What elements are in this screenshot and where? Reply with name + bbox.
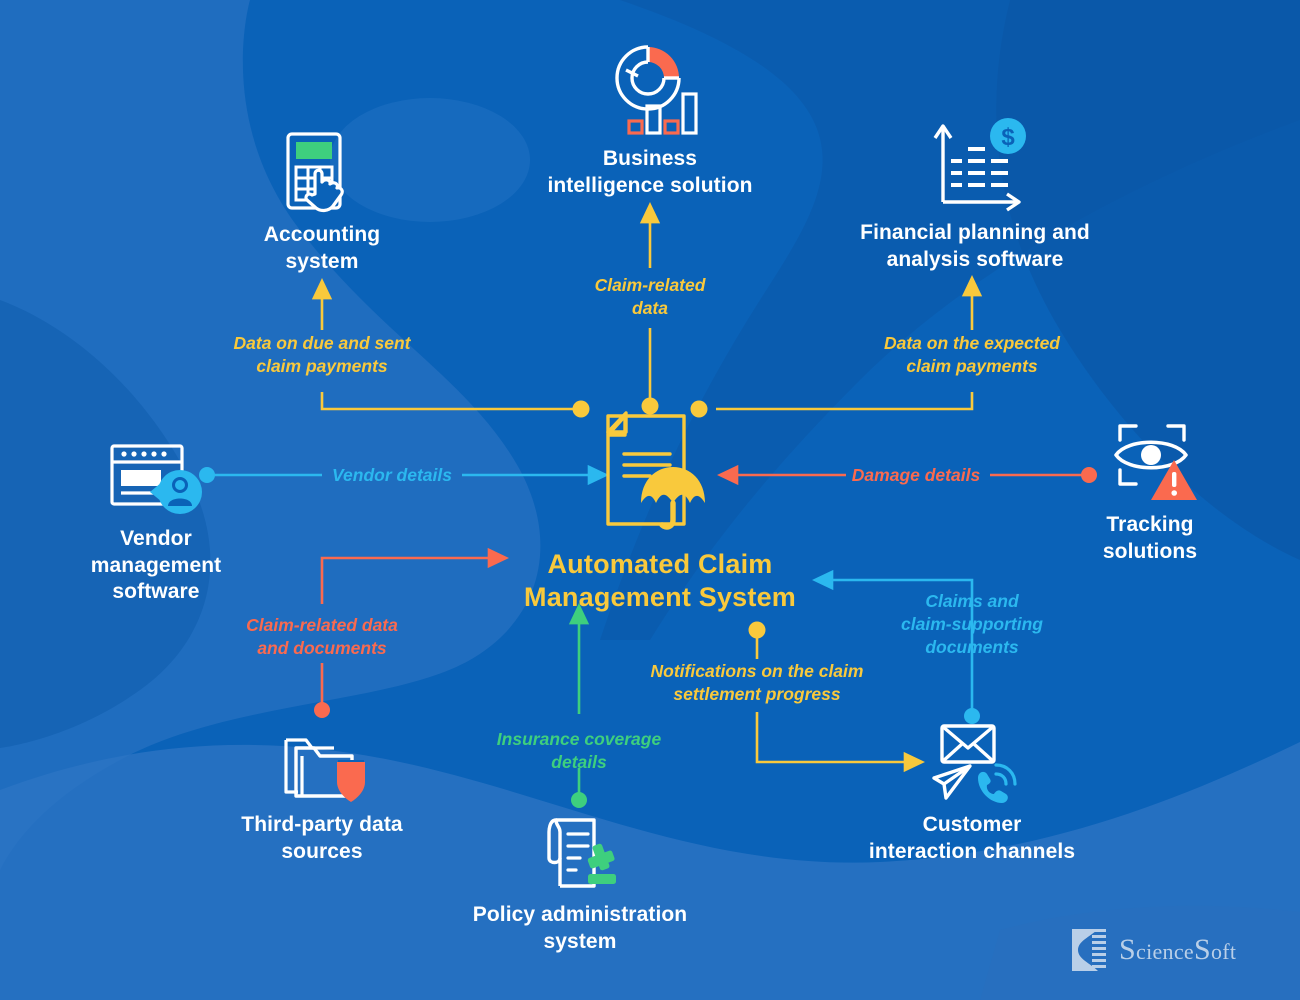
flow-label-financial-planning: Data on the expected claim payments [852,332,1092,378]
node-financial-planning[interactable]: $ Financial planning and analysis softwa… [840,116,1110,273]
flow-label-vendor-details: Vendor details [302,464,482,487]
eye-scan-alert-icon [1098,418,1202,504]
flow-label-damage-details: Damage details [826,464,1006,487]
monitor-person-icon [106,440,206,518]
customer-icon-wrap [852,722,1092,804]
flow-label-notifications: Notifications on the claim settlement pr… [617,660,897,706]
center-title: Automated Claim Management System [460,548,860,614]
node-label: Vendor management software [56,526,256,606]
node-accounting-system[interactable]: Accounting system [222,130,422,275]
policy-icon-wrap [460,812,700,894]
diagram-canvas: Automated Claim Management System Accoun… [0,0,1300,1000]
vendor-icon-wrap [56,440,256,518]
tracking-icon-wrap [1050,418,1250,504]
node-label: Business intelligence solution [520,146,780,199]
sciencesoft-logo: ScienceSoft [1068,925,1236,975]
accounting-icon-wrap [222,130,422,214]
node-label: Tracking solutions [1050,512,1250,565]
calculator-hand-icon [279,130,365,214]
flow-label-policy: Insurance coverage details [479,728,679,774]
svg-text:$: $ [1001,124,1015,151]
document-umbrella-icon [580,408,720,533]
donut-chart-bars-icon [602,40,698,138]
node-business-intelligence[interactable]: Business intelligence solution [520,40,780,199]
financial-icon-wrap: $ [840,116,1110,212]
thirdparty-icon-wrap [212,722,432,804]
axis-chart-dollar-icon: $ [917,116,1033,212]
node-customer-channels[interactable]: Customer interaction channels [852,722,1092,865]
flow-label-third-party: Claim-related data and documents [212,614,432,660]
sciencesoft-mark-icon [1068,925,1110,975]
node-third-party-data[interactable]: Third-party data sources [212,722,432,865]
bi-icon-wrap [520,40,780,138]
node-policy-administration[interactable]: Policy administration system [460,812,700,955]
node-vendor-management[interactable]: Vendor management software [56,440,256,606]
node-label: Financial planning and analysis software [840,220,1110,273]
scroll-gavel-icon [536,812,624,894]
node-label: Accounting system [222,222,422,275]
node-tracking-solutions[interactable]: Tracking solutions [1050,418,1250,565]
flow-label-business-intelligence: Claim-related data [550,274,750,320]
node-label: Customer interaction channels [852,812,1092,865]
envelope-plane-phone-icon [924,722,1020,804]
flow-label-accounting: Data on due and sent claim payments [202,332,442,378]
node-label: Policy administration system [460,902,700,955]
flow-label-claims-in: Claims and claim-supporting documents [882,590,1062,658]
node-label: Third-party data sources [212,812,432,865]
sciencesoft-wordmark: ScienceSoft [1119,933,1236,967]
folders-shield-icon [276,722,368,804]
center-node-icon [580,408,720,538]
